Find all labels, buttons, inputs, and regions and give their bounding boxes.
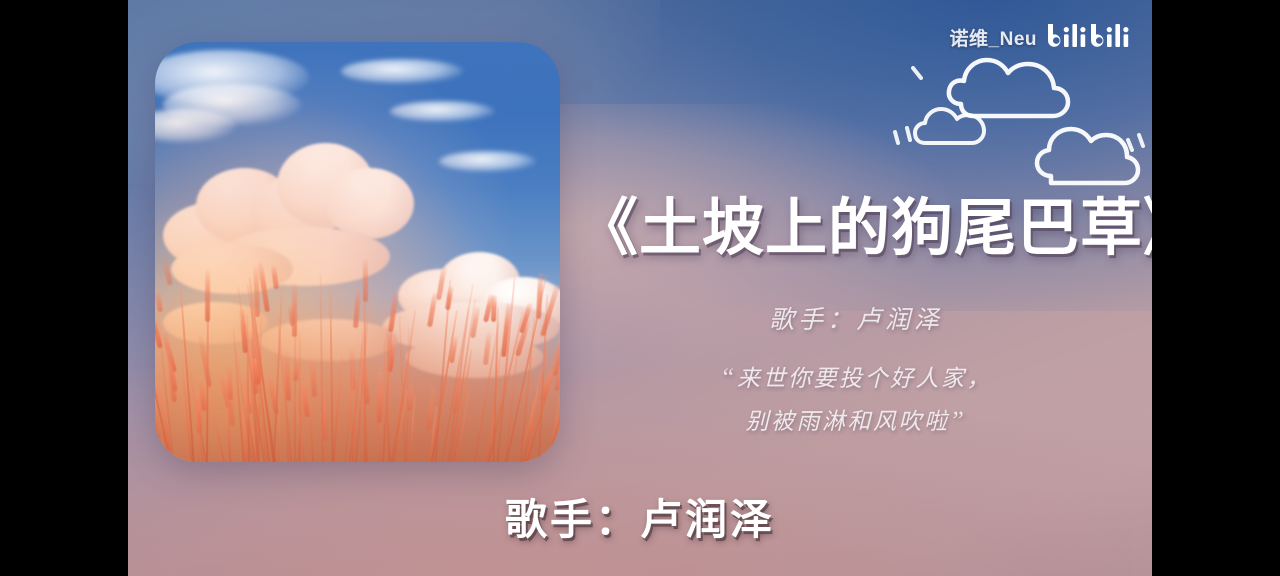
lyric-line-2: 别被雨淋和风吹啦” <box>576 399 1136 442</box>
album-cover-art[interactable] <box>155 42 560 462</box>
song-title: 《土坡上的狗尾巴草》 <box>576 196 1136 262</box>
art-grass-tuft <box>363 259 368 302</box>
video-stage: 《土坡上的狗尾巴草》 歌手：卢润泽 “来世你要投个好人家， 别被雨淋和风吹啦” … <box>128 0 1152 576</box>
quote-close-mark: ” <box>950 406 967 435</box>
lyric-line-1: “来世你要投个好人家， <box>576 356 1136 399</box>
video-player-screen: 《土坡上的狗尾巴草》 歌手：卢润泽 “来世你要投个好人家， 别被雨淋和风吹啦” … <box>0 0 1280 576</box>
watermark-username: 诺维_Neu <box>950 24 1037 51</box>
art-grass-tuft <box>205 270 210 322</box>
lyric-quote: “来世你要投个好人家， 别被雨淋和风吹啦” <box>576 356 1136 442</box>
video-caption: 歌手：卢润泽 <box>128 486 1152 547</box>
lyric-line-1-text: 来世你要投个好人家， <box>737 366 992 391</box>
lyric-line-2-text: 别被雨淋和风吹啦 <box>746 409 950 434</box>
letterbox-left <box>0 0 128 576</box>
bilibili-logo <box>1046 22 1138 52</box>
art-grass-tuft <box>292 283 297 337</box>
art-grass-tuft <box>491 295 497 322</box>
artist-subtitle: 歌手：卢润泽 <box>576 300 1136 336</box>
watermark: 诺维_Neu <box>950 22 1138 52</box>
letterbox-right <box>1152 0 1280 576</box>
quote-open-mark: “ <box>720 363 737 392</box>
